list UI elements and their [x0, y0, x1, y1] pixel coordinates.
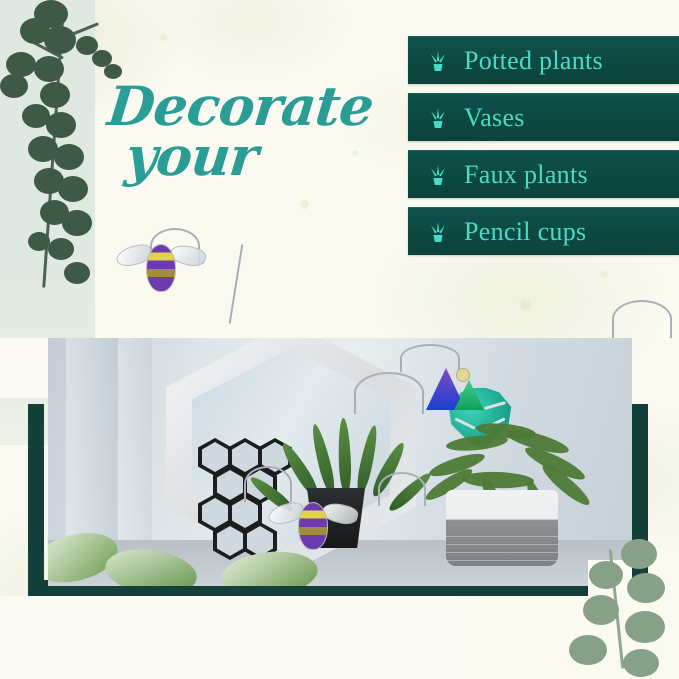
moon-hook-wire: [612, 300, 672, 338]
speck: [300, 200, 309, 209]
page-title: Decorate your: [108, 82, 408, 181]
product-photo: [48, 338, 632, 586]
feature-label: Vases: [464, 103, 525, 133]
feature-label: Potted plants: [464, 46, 603, 76]
feature-item-pencil-cups[interactable]: Pencil cups: [408, 207, 679, 255]
feature-list: Potted plants Vases Faux plants: [408, 36, 679, 264]
monstera-hook-wire: [354, 372, 424, 414]
feature-label: Pencil cups: [464, 217, 586, 247]
potted-plant-icon: [426, 219, 450, 245]
speck: [600, 270, 608, 278]
eucalyptus-sprig-bottom-right: [569, 539, 679, 679]
ribbed-plant-pot: [446, 490, 558, 566]
feature-item-vases[interactable]: Vases: [408, 93, 679, 141]
photo-curtain: [66, 338, 118, 548]
feature-item-potted-plants[interactable]: Potted plants: [408, 36, 679, 84]
potted-plant-icon: [426, 105, 450, 131]
bee-suncatcher: [118, 240, 210, 296]
crop-cover-bottom-left: [0, 596, 452, 679]
potted-plant-icon: [426, 162, 450, 188]
bee-hook-wire-photo: [244, 466, 292, 502]
potted-plant-icon: [426, 48, 450, 74]
crop-cover-left: [0, 338, 48, 398]
feature-label: Faux plants: [464, 160, 588, 190]
photo-frame-left: [28, 404, 44, 596]
poster-canvas: Decorate your Potted plants Vases: [0, 0, 679, 679]
bee-body: [146, 244, 176, 292]
headline-line-2: your: [123, 132, 410, 182]
speck: [520, 300, 531, 311]
feature-item-faux-plants[interactable]: Faux plants: [408, 150, 679, 198]
speck: [160, 34, 167, 41]
mountain-suncatcher: [426, 366, 490, 410]
photo-curtain: [118, 338, 152, 548]
bee-suncatcher-photo: [270, 498, 356, 550]
